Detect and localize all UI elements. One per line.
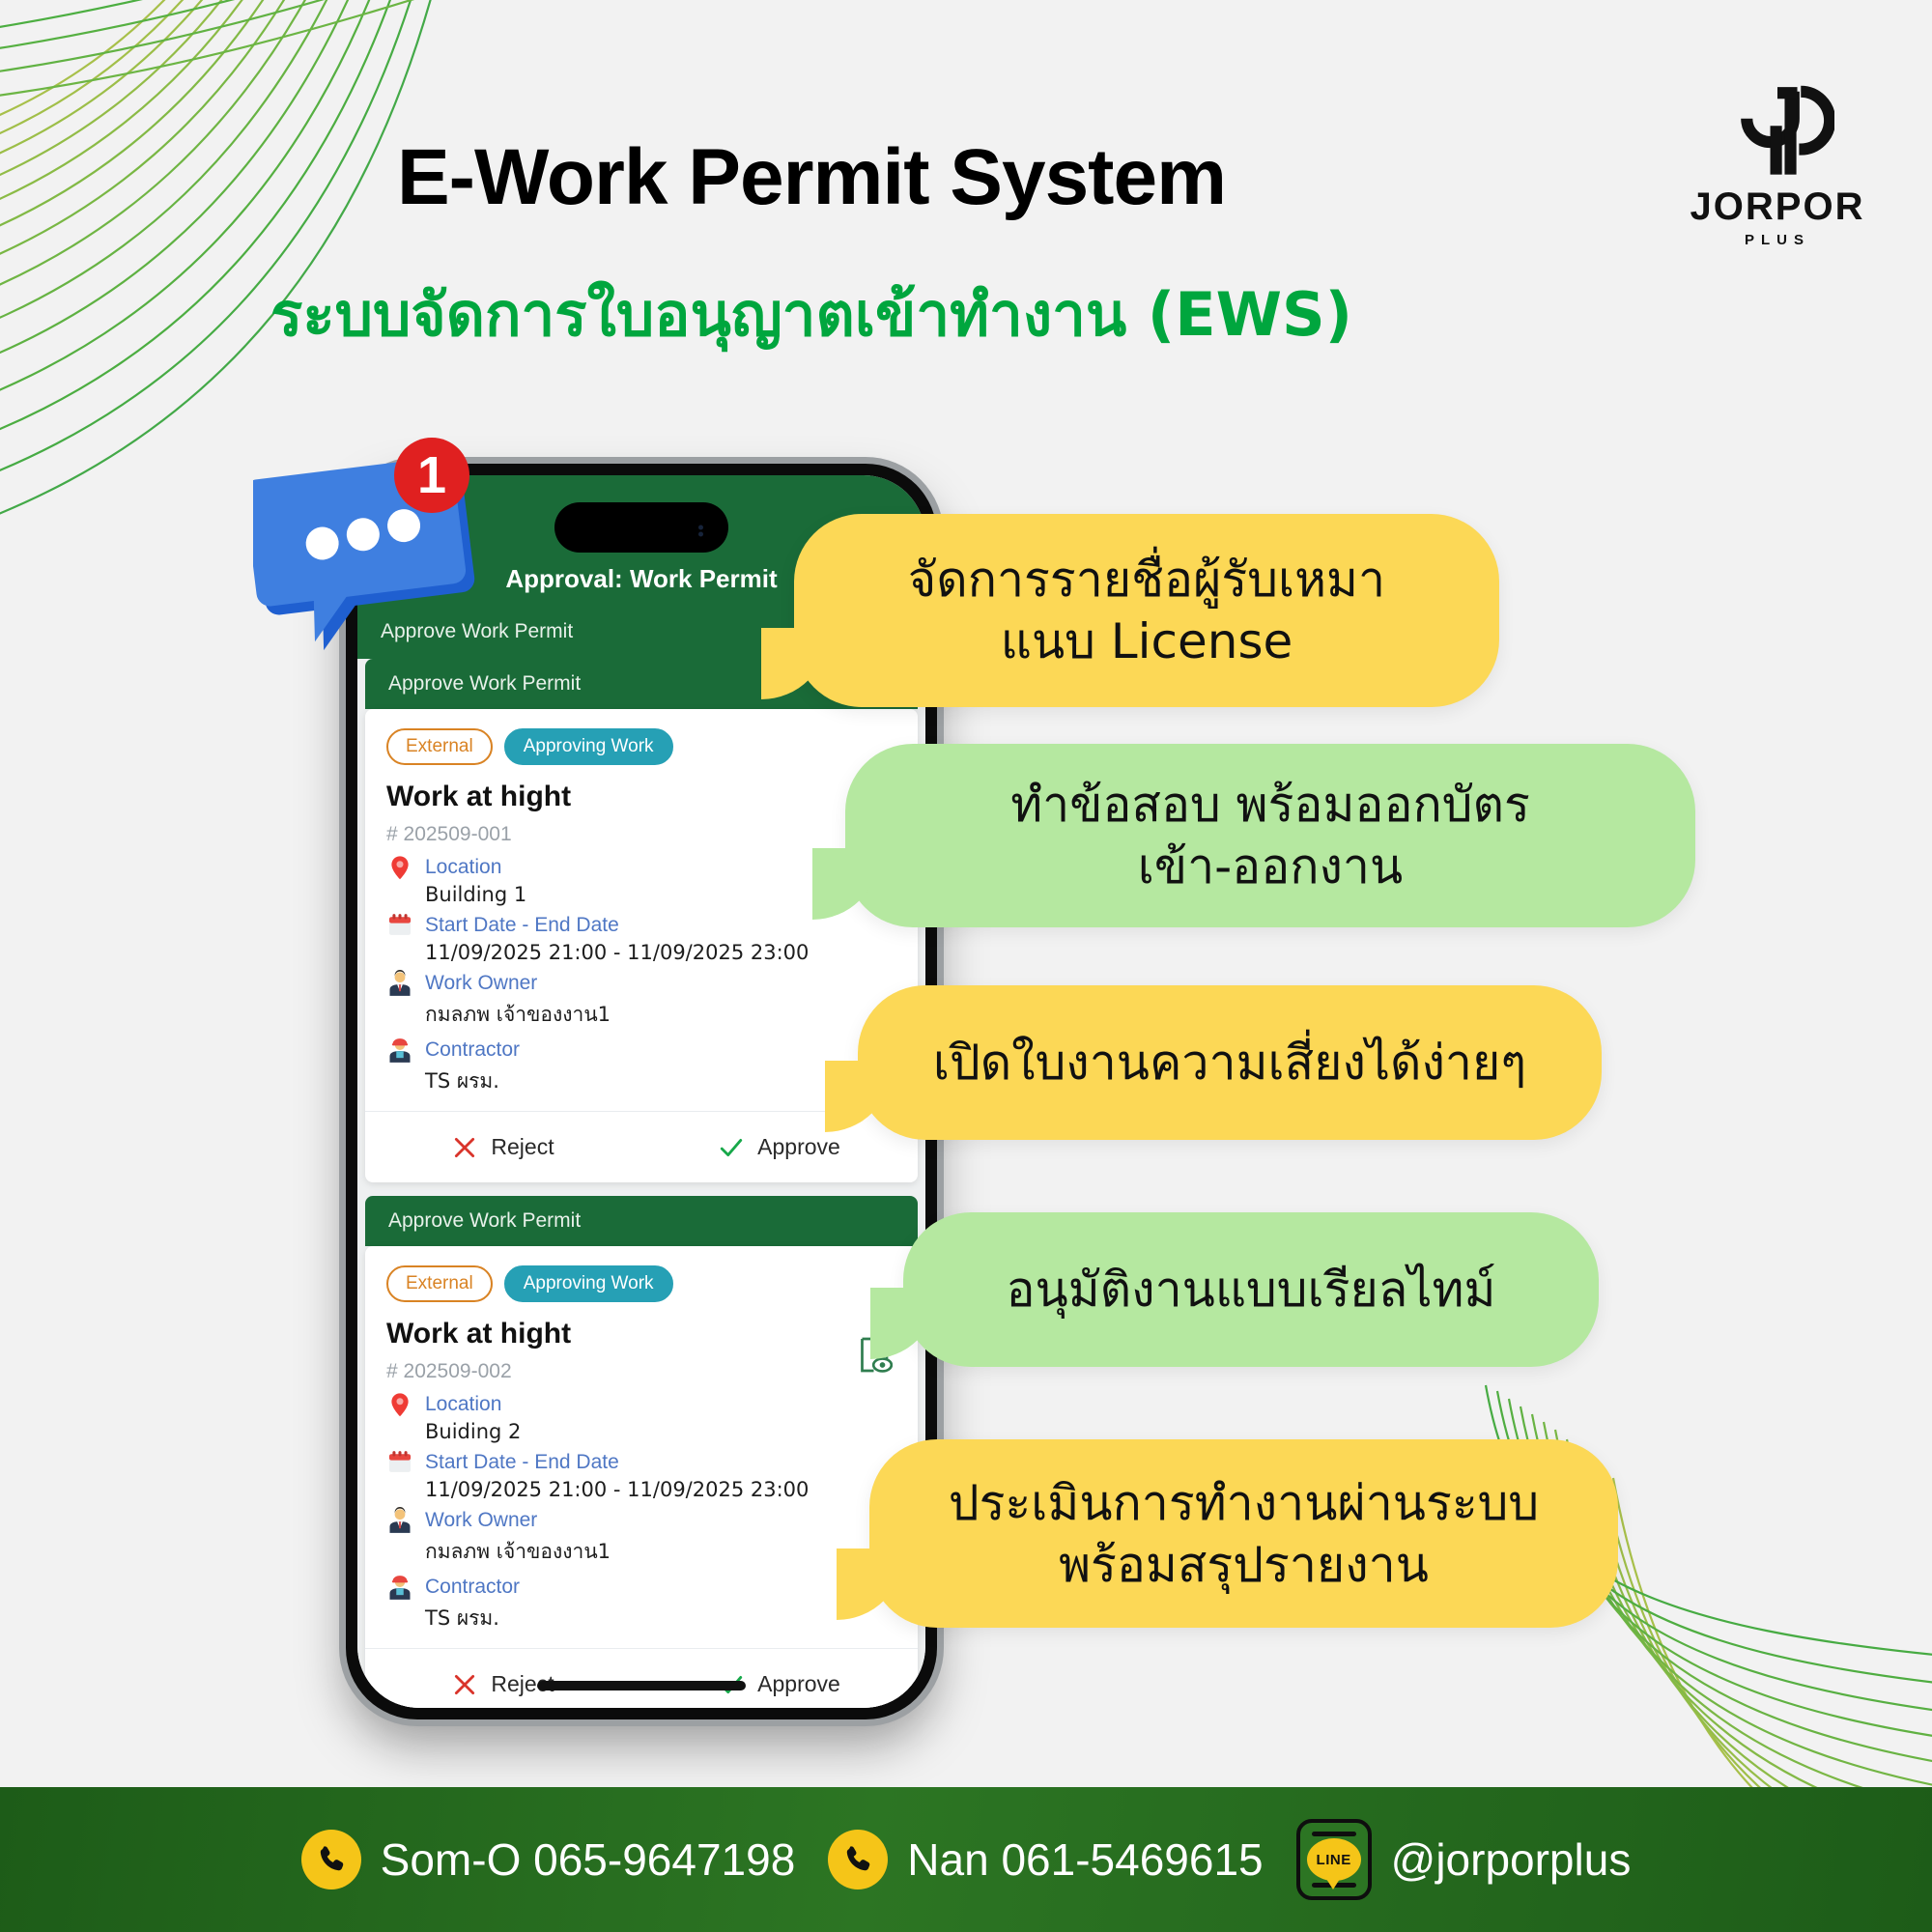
- card-actions: Reject Approve: [365, 1648, 918, 1708]
- field-value-contractor: TS ผรม.: [425, 1603, 896, 1634]
- reject-label: Reject: [491, 1134, 554, 1160]
- location-pin-icon: [386, 1391, 413, 1418]
- field-label-date: Start Date - End Date: [425, 1451, 619, 1474]
- card-title: Work at hight: [386, 1318, 896, 1350]
- field-owner: Work Owner: [386, 970, 896, 997]
- chip-external[interactable]: External: [386, 728, 493, 765]
- home-indicator: [537, 1681, 746, 1690]
- feature-bubble-5: ประเมินการทำงานผ่านระบบ พร้อมสรุปรายงาน: [869, 1439, 1618, 1628]
- line-badge-label: LINE: [1317, 1852, 1351, 1868]
- approve-label: Approve: [757, 1671, 840, 1697]
- field-value-date: 11/09/2025 21:00 - 11/09/2025 23:00: [425, 1478, 896, 1501]
- line-app-icon: LINE: [1296, 1819, 1372, 1900]
- field-value-owner: กมลภพ เจ้าของงาน1: [425, 1536, 896, 1568]
- bubble-2-line-1: ทำข้อสอบ พร้อมออกบัตร: [1010, 774, 1530, 836]
- line-bubble-icon: LINE: [1307, 1838, 1361, 1881]
- contact-somo-text: Som-O 065-9647198: [381, 1833, 796, 1886]
- card-code: # 202509-001: [386, 823, 896, 846]
- worker-helmet-icon: [386, 1037, 413, 1064]
- field-value-date: 11/09/2025 21:00 - 11/09/2025 23:00: [425, 941, 896, 964]
- reject-button[interactable]: Reject: [365, 1134, 641, 1160]
- calendar-icon: [386, 1449, 413, 1476]
- line-id-text: @jorporplus: [1391, 1833, 1632, 1886]
- bubble-1-line-1: จัดการรายชื่อผู้รับเหมา: [908, 549, 1385, 611]
- approve-button[interactable]: Approve: [641, 1134, 918, 1160]
- page-title: E-Work Permit System: [0, 135, 1623, 221]
- field-label-contractor: Contractor: [425, 1576, 520, 1599]
- close-icon: [452, 1672, 477, 1697]
- phone-icon: [828, 1830, 888, 1889]
- permit-card[interactable]: External Approving Work Work at hight # …: [365, 1246, 918, 1708]
- jp-monogram-icon: [1720, 75, 1834, 184]
- chip-status[interactable]: Approving Work: [504, 728, 673, 765]
- bubble-1-line-2: แนบ License: [908, 611, 1385, 672]
- bubble-5-line-1: ประเมินการทำงานผ่านระบบ: [949, 1472, 1539, 1534]
- businessman-icon: [386, 970, 413, 997]
- feature-bubble-4: อนุมัติงานแบบเรียลไทม์: [903, 1212, 1599, 1367]
- field-value-owner: กมลภพ เจ้าของงาน1: [425, 999, 896, 1031]
- notification-chat-icon: 1: [253, 437, 495, 659]
- bubble-tail: [812, 848, 880, 920]
- contact-footer: Som-O 065-9647198 Nan 061-5469615 LINE @…: [0, 1787, 1932, 1932]
- field-contractor: Contractor: [386, 1037, 896, 1064]
- field-label-date: Start Date - End Date: [425, 914, 619, 937]
- notification-count: 1: [417, 446, 446, 504]
- bubble-2-line-2: เข้า-ออกงาน: [1010, 836, 1530, 897]
- feature-bubble-3: เปิดใบงานความเสี่ยงได้ง่ายๆ: [858, 985, 1602, 1140]
- poster-canvas: E-Work Permit System ระบบจัดการใบอนุญาตเ…: [0, 0, 1932, 1932]
- bubble-3-line-1: เปิดใบงานความเสี่ยงได้ง่ายๆ: [933, 1032, 1526, 1094]
- contact-nan[interactable]: Nan 061-5469615: [828, 1830, 1263, 1889]
- contact-nan-text: Nan 061-5469615: [907, 1833, 1263, 1886]
- location-pin-icon: [386, 854, 413, 881]
- card-title: Work at hight: [386, 781, 896, 813]
- field-value-location: Buiding 2: [425, 1420, 896, 1443]
- page-subtitle: ระบบจัดการใบอนุญาตเข้าทำงาน (EWS): [0, 280, 1623, 349]
- bubble-4-line-1: อนุมัติงานแบบเรียลไทม์: [1007, 1259, 1496, 1321]
- bubble-tail: [870, 1288, 938, 1359]
- line-badge-bar-top: [1312, 1832, 1356, 1836]
- field-contractor: Contractor: [386, 1574, 896, 1601]
- contact-line[interactable]: LINE @jorporplus: [1296, 1819, 1632, 1900]
- phone-icon: [301, 1830, 361, 1889]
- feature-bubble-2: ทำข้อสอบ พร้อมออกบัตร เข้า-ออกงาน: [845, 744, 1695, 927]
- logo-wordmark: JORPOR: [1683, 187, 1872, 226]
- feature-bubble-1: จัดการรายชื่อผู้รับเหมา แนบ License: [794, 514, 1499, 707]
- dynamic-island: [554, 502, 728, 553]
- field-date: Start Date - End Date: [386, 1449, 896, 1476]
- worker-helmet-icon: [386, 1574, 413, 1601]
- bubble-tail: [825, 1061, 893, 1132]
- field-label-owner: Work Owner: [425, 972, 537, 995]
- card-code: # 202509-002: [386, 1360, 896, 1383]
- card-chips: External Approving Work: [386, 1265, 896, 1302]
- field-label-owner: Work Owner: [425, 1509, 537, 1532]
- chip-status[interactable]: Approving Work: [504, 1265, 673, 1302]
- chip-external[interactable]: External: [386, 1265, 493, 1302]
- field-owner: Work Owner: [386, 1507, 896, 1534]
- field-label-location: Location: [425, 1393, 501, 1416]
- field-label-location: Location: [425, 856, 501, 879]
- approve-label: Approve: [757, 1134, 840, 1160]
- brand-logo: JORPOR PLUS: [1683, 75, 1872, 248]
- bubble-5-line-2: พร้อมสรุปรายงาน: [949, 1534, 1539, 1596]
- check-icon: [719, 1135, 744, 1160]
- field-location: Location: [386, 1391, 896, 1418]
- bubble-tail: [837, 1548, 904, 1620]
- logo-subtext: PLUS: [1683, 232, 1872, 248]
- card-chips: External Approving Work: [386, 728, 896, 765]
- contact-somo[interactable]: Som-O 065-9647198: [301, 1830, 796, 1889]
- businessman-icon: [386, 1507, 413, 1534]
- card-header-2: Approve Work Permit: [365, 1196, 918, 1246]
- calendar-icon: [386, 912, 413, 939]
- bubble-tail: [761, 628, 829, 699]
- field-label-contractor: Contractor: [425, 1038, 520, 1062]
- close-icon: [452, 1135, 477, 1160]
